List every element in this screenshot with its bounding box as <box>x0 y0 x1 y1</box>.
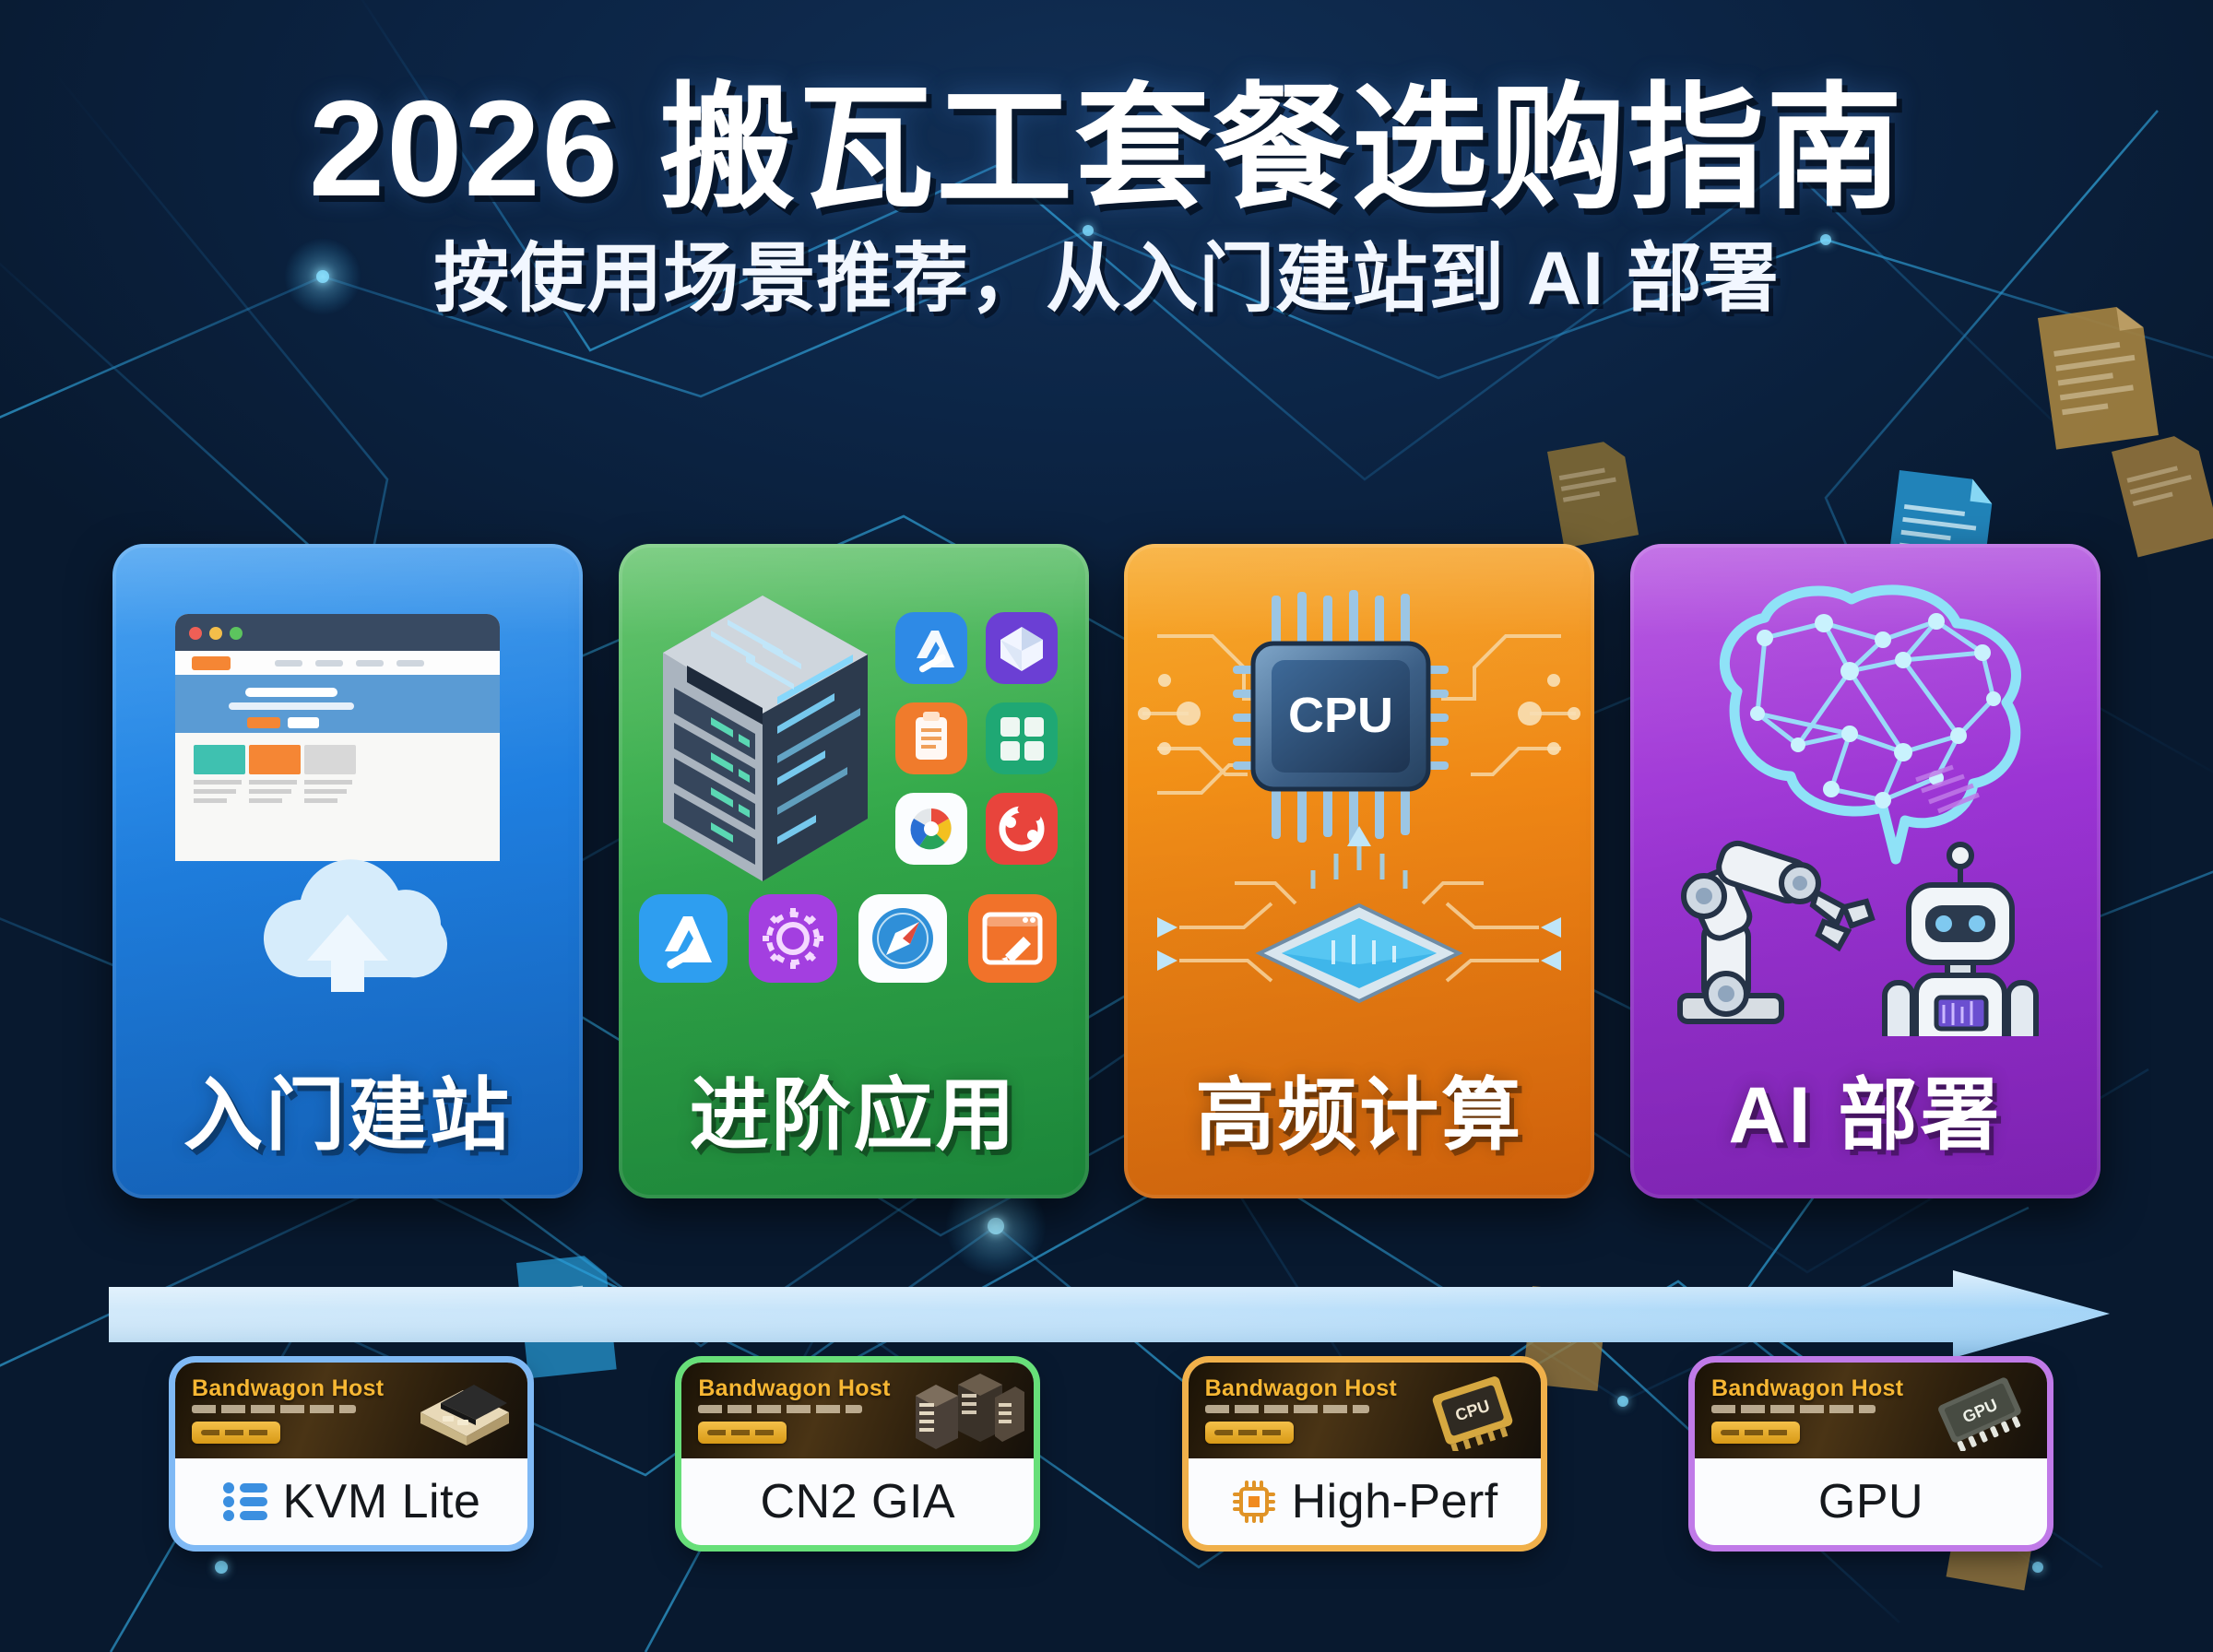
page-subtitle: 按使用场景推荐，从入门建站到 AI 部署 <box>0 238 2213 321</box>
brand-name: Bandwagon Host <box>192 1375 384 1402</box>
progression-arrow-icon <box>109 1270 2110 1358</box>
scenario-card-advanced-apps[interactable]: 进阶应用 <box>619 544 1089 1198</box>
scenario-card-entry-website[interactable]: 入门建站 <box>112 544 583 1198</box>
badge-banner: Bandwagon Host GPU <box>1695 1363 2047 1458</box>
badge-banner: Bandwagon Host <box>175 1363 527 1458</box>
badge-banner: Bandwagon Host <box>681 1363 1034 1458</box>
header: 2026 搬瓦工套餐选购指南 按使用场景推荐，从入门建站到 AI 部署 <box>0 0 2213 321</box>
scenario-card-row: 入门建站 <box>112 544 2101 1198</box>
cpu-icon <box>1231 1479 1277 1525</box>
cloud-upload-icon <box>264 859 447 992</box>
card-label: 高频计算 <box>1124 1050 1594 1165</box>
robot-icon <box>1885 844 2036 1036</box>
banner-cta-button[interactable] <box>1711 1422 1800 1444</box>
plan-badge-high-perf[interactable]: Bandwagon Host CPU <box>1189 1363 1541 1545</box>
banner-tagline <box>698 1405 862 1413</box>
server-box-thumb <box>400 1370 518 1451</box>
badge-footer: KVM Lite <box>175 1458 527 1545</box>
browser-window-icon <box>112 566 583 1036</box>
server-racks-thumb <box>906 1370 1024 1451</box>
robot-arm-icon <box>1680 839 1872 1021</box>
page-title: 2026 搬瓦工套餐选购指南 <box>0 76 2213 223</box>
brand-name: Bandwagon Host <box>1205 1375 1397 1402</box>
gpu-chip-thumb: GPU <box>1920 1370 2038 1451</box>
plan-badge-gpu[interactable]: Bandwagon Host GPU GPU <box>1695 1363 2047 1545</box>
plan-name: CN2 GIA <box>761 1478 956 1526</box>
card-label: 进阶应用 <box>619 1050 1089 1165</box>
banner-tagline <box>1711 1405 1876 1413</box>
scenario-card-ai-deployment[interactable]: AI 部署 <box>1630 544 2101 1198</box>
banner-tagline <box>1205 1405 1369 1413</box>
badge-banner: Bandwagon Host CPU <box>1189 1363 1541 1458</box>
list-icon <box>222 1481 268 1523</box>
plan-name: GPU <box>1818 1478 1923 1526</box>
brand-name: Bandwagon Host <box>698 1375 890 1402</box>
neural-brain-icon <box>1630 566 2101 1036</box>
cpu-chip-thumb: CPU <box>1414 1370 1532 1451</box>
card-label: 入门建站 <box>112 1050 583 1165</box>
plan-name: KVM Lite <box>283 1478 481 1526</box>
badge-footer: CN2 GIA <box>681 1458 1034 1545</box>
banner-cta-button[interactable] <box>192 1422 280 1444</box>
cpu-chip-icon: CPU <box>1124 566 1594 1036</box>
server-rack-icon <box>619 566 1089 1036</box>
plan-badge-cn2-gia[interactable]: Bandwagon Host CN2 GIA <box>681 1363 1034 1545</box>
plan-badge-row: Bandwagon Host KVM Lite Bandwagon Host <box>175 1363 2047 1556</box>
badge-footer: High-Perf <box>1189 1458 1541 1545</box>
badge-footer: GPU <box>1695 1458 2047 1545</box>
banner-tagline <box>192 1405 356 1413</box>
brand-name: Bandwagon Host <box>1711 1375 1903 1402</box>
scenario-card-high-performance[interactable]: CPU <box>1124 544 1594 1198</box>
plan-badge-kvm-lite[interactable]: Bandwagon Host KVM Lite <box>175 1363 527 1545</box>
banner-cta-button[interactable] <box>1205 1422 1294 1444</box>
cpu-chip-label: CPU <box>1288 688 1393 743</box>
card-label: AI 部署 <box>1630 1050 2101 1165</box>
plan-name: High-Perf <box>1292 1478 1498 1526</box>
banner-cta-button[interactable] <box>698 1422 787 1444</box>
